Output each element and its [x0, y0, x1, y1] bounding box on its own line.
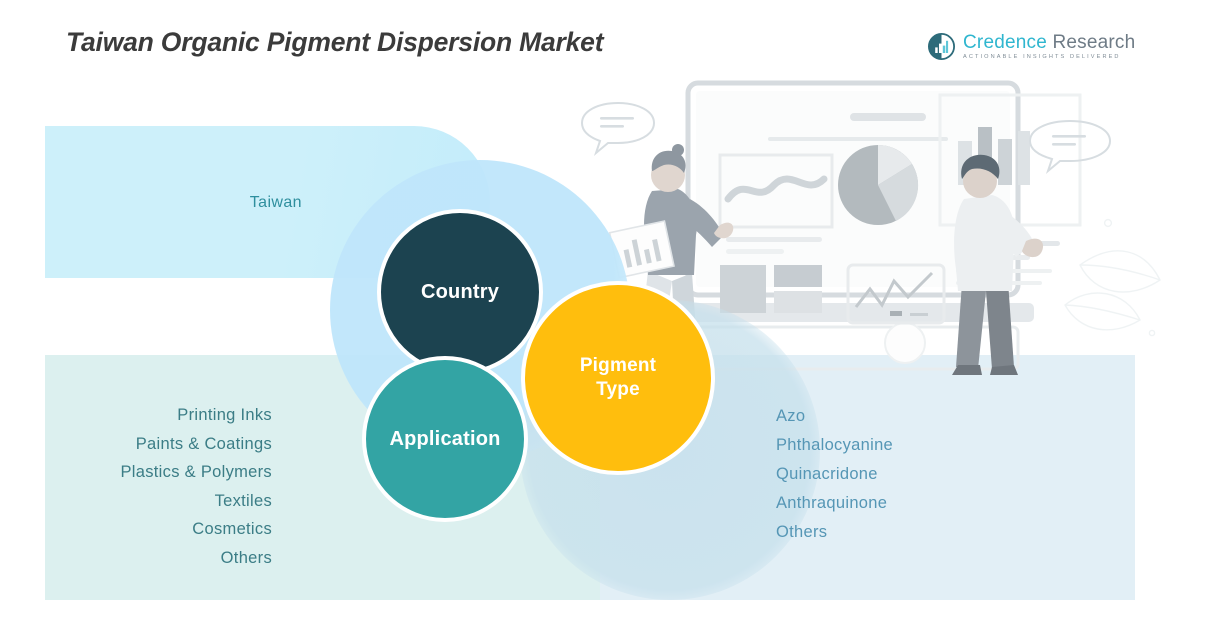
logo-tagline: Actionable Insights Delivered — [963, 55, 1135, 61]
speech-bubble-right — [1030, 121, 1110, 171]
segment-circle-pigment-type[interactable]: Pigment Type — [521, 281, 715, 475]
list-item: Taiwan — [0, 194, 302, 212]
list-item: Textiles — [0, 487, 272, 516]
segment-circle-application[interactable]: Application — [362, 356, 528, 522]
page-title: Taiwan Organic Pigment Dispersion Market — [66, 27, 603, 58]
list-item: Paints & Coatings — [0, 430, 272, 459]
logo-name-accent: Credence — [963, 32, 1047, 53]
speech-bubble-left — [582, 103, 654, 153]
bar-chart-circle-icon — [928, 33, 955, 60]
list-item: Phthalocyanine — [776, 431, 893, 460]
application-item-list: Printing Inks Paints & Coatings Plastics… — [0, 401, 272, 573]
logo-wordmark: Credence Research Actionable Insights De… — [963, 33, 1135, 61]
logo-name-rest: Research — [1047, 32, 1135, 53]
list-item: Cosmetics — [0, 515, 272, 544]
list-item: Quinacridone — [776, 460, 893, 489]
pigment-type-item-list: Azo Phthalocyanine Quinacridone Anthraqu… — [776, 402, 893, 547]
country-item-list: Taiwan — [0, 194, 302, 212]
segment-circle-country[interactable]: Country — [377, 209, 543, 375]
list-item: Plastics & Polymers — [0, 458, 272, 487]
segment-circle-pigment-type-label-line2: Type — [596, 379, 640, 400]
list-item: Others — [0, 544, 272, 573]
brand-logo[interactable]: Credence Research Actionable Insights De… — [928, 33, 1135, 61]
segment-circle-application-label: Application — [389, 428, 500, 451]
list-item: Printing Inks — [0, 401, 272, 430]
list-item: Azo — [776, 402, 893, 431]
segment-circle-pigment-type-label-line1: Pigment — [580, 355, 656, 376]
list-item: Anthraquinone — [776, 489, 893, 518]
list-item: Others — [776, 518, 893, 547]
segment-circle-country-label: Country — [421, 281, 499, 304]
